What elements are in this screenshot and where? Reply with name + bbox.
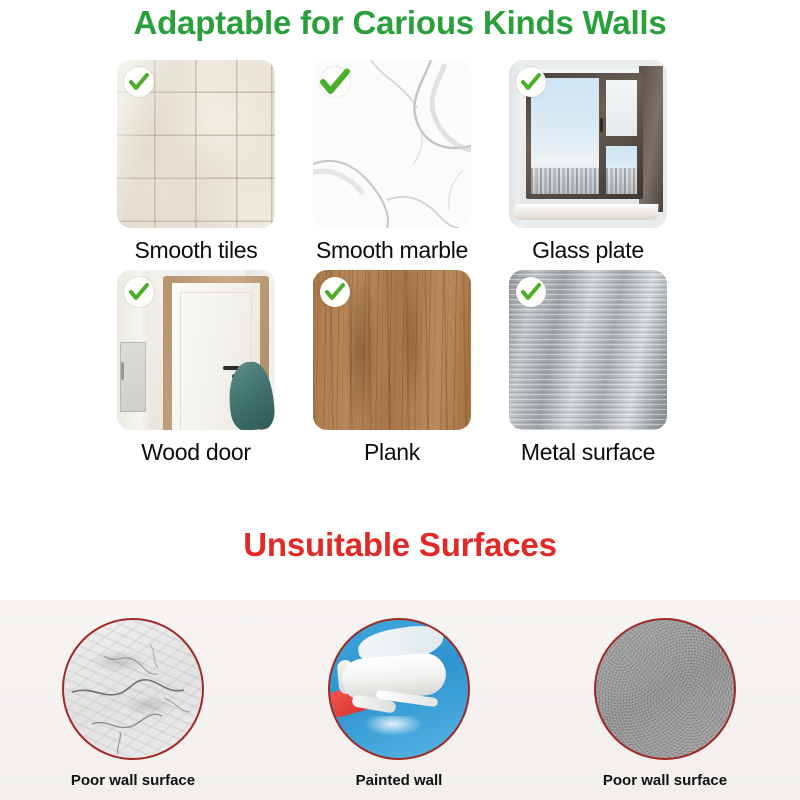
surface-thumbnail-wood-door — [117, 270, 275, 430]
suitable-row-2: Wood door Plank Metal surface — [112, 270, 692, 466]
unsuitable-thumbnail-cracked-plaster — [62, 618, 204, 760]
surface-label: Smooth marble — [316, 237, 468, 264]
surface-label: Metal surface — [521, 439, 655, 466]
surface-label: Smooth tiles — [135, 237, 258, 264]
check-icon — [516, 67, 546, 97]
surface-label: Glass plate — [532, 237, 644, 264]
surface-card-wood-door[interactable]: Wood door — [112, 270, 280, 466]
unsuitable-label: Poor wall surface — [603, 772, 727, 789]
check-icon — [124, 277, 154, 307]
page-title-suitable: Adaptable for Carious Kinds Walls — [0, 4, 800, 42]
surface-thumbnail-glass-plate — [509, 60, 667, 228]
window-pane-small — [606, 146, 637, 194]
crack-lines-decoration — [64, 620, 202, 758]
page-title-unsuitable: Unsuitable Surfaces — [0, 526, 800, 564]
unsuitable-thumbnail-rough-stucco — [594, 618, 736, 760]
cityscape-decoration — [606, 168, 637, 194]
surface-card-plank[interactable]: Plank — [308, 270, 476, 466]
surface-thumbnail-smooth-marble — [313, 60, 471, 228]
unsuitable-label: Painted wall — [356, 772, 443, 789]
surface-thumbnail-plank — [313, 270, 471, 430]
check-icon — [320, 277, 350, 307]
surface-thumbnail-smooth-tiles — [117, 60, 275, 228]
surface-card-smooth-marble[interactable]: Smooth marble — [308, 60, 476, 264]
cityscape-decoration — [531, 168, 599, 194]
window-pane-large — [531, 78, 599, 194]
paint-drip-decoration — [364, 716, 422, 736]
suitable-surfaces-grid: Smooth tiles — [112, 60, 692, 472]
window-handle — [600, 118, 603, 132]
surface-card-metal-surface[interactable]: Metal surface — [504, 270, 672, 466]
window-sill — [514, 204, 658, 220]
check-icon — [516, 277, 546, 307]
unsuitable-thumbnail-paint-roller — [328, 618, 470, 760]
unsuitable-label: Poor wall surface — [71, 772, 195, 789]
suitable-row-1: Smooth tiles — [112, 60, 692, 264]
surface-card-glass-plate[interactable]: Glass plate — [504, 60, 672, 264]
surface-label: Plank — [364, 439, 420, 466]
unsuitable-card-poor-wall-surface-2[interactable]: Poor wall surface — [532, 618, 798, 789]
surface-card-smooth-tiles[interactable]: Smooth tiles — [112, 60, 280, 264]
check-icon — [124, 67, 154, 97]
check-icon — [320, 67, 350, 97]
unsuitable-card-poor-wall-surface-1[interactable]: Poor wall surface — [0, 618, 266, 789]
unsuitable-surfaces-row: Poor wall surface Painted wall Poor wall… — [0, 618, 800, 789]
wall-panel-handle — [121, 362, 124, 380]
surface-thumbnail-metal-surface — [509, 270, 667, 430]
unsuitable-card-painted-wall[interactable]: Painted wall — [266, 618, 532, 789]
surface-label: Wood door — [141, 439, 250, 466]
window-pane-tall — [606, 80, 637, 136]
unsuitable-surfaces-panel: Poor wall surface Painted wall Poor wall… — [0, 600, 800, 800]
